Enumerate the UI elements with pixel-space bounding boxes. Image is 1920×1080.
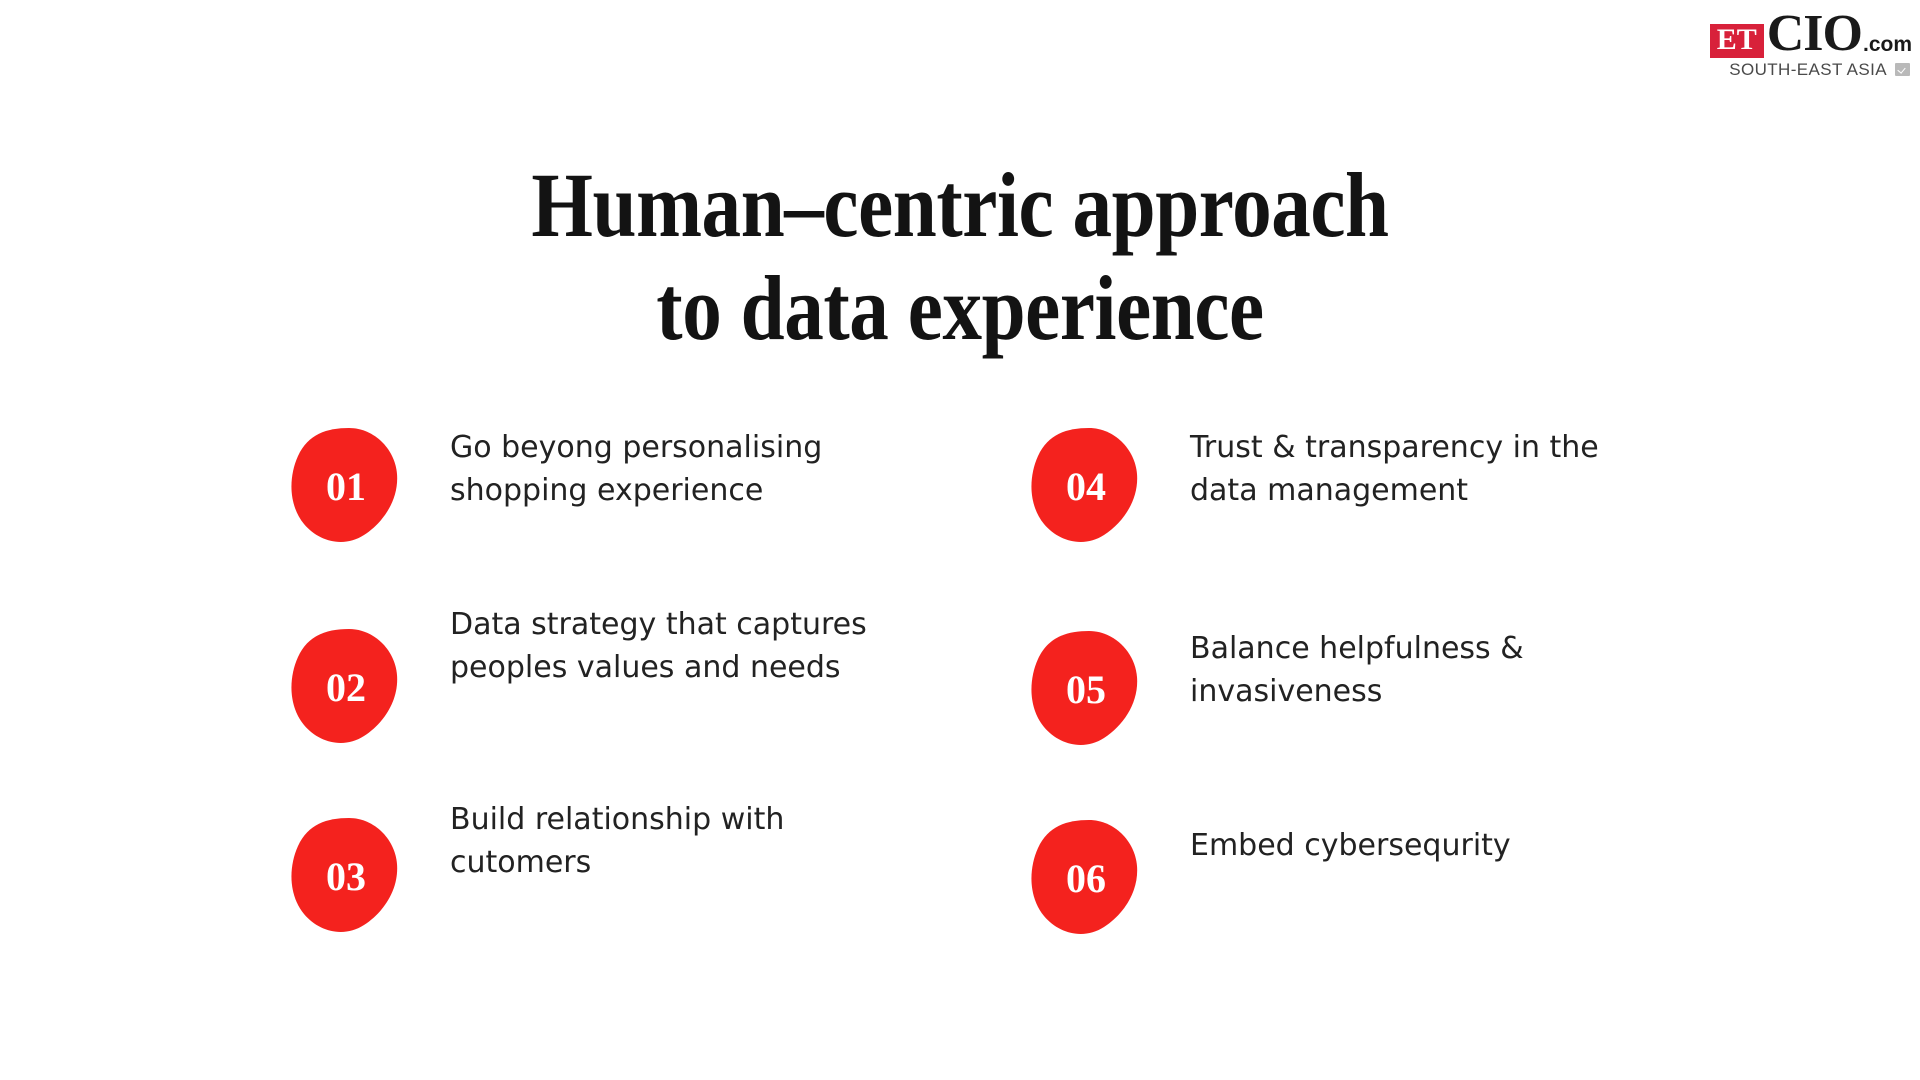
page-title: Human–centric approach to data experienc… <box>134 154 1785 360</box>
number-blob: 06 <box>1026 817 1144 935</box>
item-number: 05 <box>1026 628 1144 746</box>
list-item: 03 Build relationship with cutomers <box>286 781 906 964</box>
list-item: 05 Balance helpfulness & invasiveness <box>1026 598 1646 781</box>
list-item: 01 Go beyong personalising shopping expe… <box>286 415 906 598</box>
page-title-line-1: Human–centric approach <box>134 154 1785 257</box>
number-blob: 04 <box>1026 425 1144 543</box>
item-number: 03 <box>286 815 404 933</box>
item-text: Embed cybersequrity <box>1190 781 1511 868</box>
item-text: Balance helpfulness & invasiveness <box>1190 598 1646 713</box>
number-blob: 02 <box>286 626 404 744</box>
logo-cio-text: CIO <box>1767 10 1862 58</box>
item-text: Build relationship with cutomers <box>450 781 890 884</box>
logo-wordmark: ET CIO .com <box>1710 10 1912 58</box>
item-text: Data strategy that captures peoples valu… <box>450 598 890 689</box>
etcio-logo: ET CIO .com SOUTH-EAST ASIA <box>1640 10 1912 82</box>
numbered-list: 01 Go beyong personalising shopping expe… <box>286 415 1646 964</box>
page-title-line-2: to data experience <box>134 257 1785 360</box>
list-item: 06 Embed cybersequrity <box>1026 781 1646 964</box>
item-text: Go beyong personalising shopping experie… <box>450 415 890 512</box>
number-blob: 05 <box>1026 628 1144 746</box>
list-item: 04 Trust & transparency in the data mana… <box>1026 415 1646 598</box>
number-blob: 03 <box>286 815 404 933</box>
item-number: 04 <box>1026 425 1144 543</box>
item-number: 01 <box>286 425 404 543</box>
item-text: Trust & transparency in the data managem… <box>1190 415 1646 512</box>
verified-check-icon <box>1895 63 1910 76</box>
logo-region-text: SOUTH-EAST ASIA <box>1729 60 1887 80</box>
item-number: 02 <box>286 626 404 744</box>
item-number: 06 <box>1026 817 1144 935</box>
number-blob: 01 <box>286 425 404 543</box>
logo-region-row: SOUTH-EAST ASIA <box>1729 60 1910 80</box>
list-item: 02 Data strategy that captures peoples v… <box>286 598 906 781</box>
logo-et-mark: ET <box>1710 24 1764 58</box>
logo-domain-text: .com <box>1863 34 1912 58</box>
